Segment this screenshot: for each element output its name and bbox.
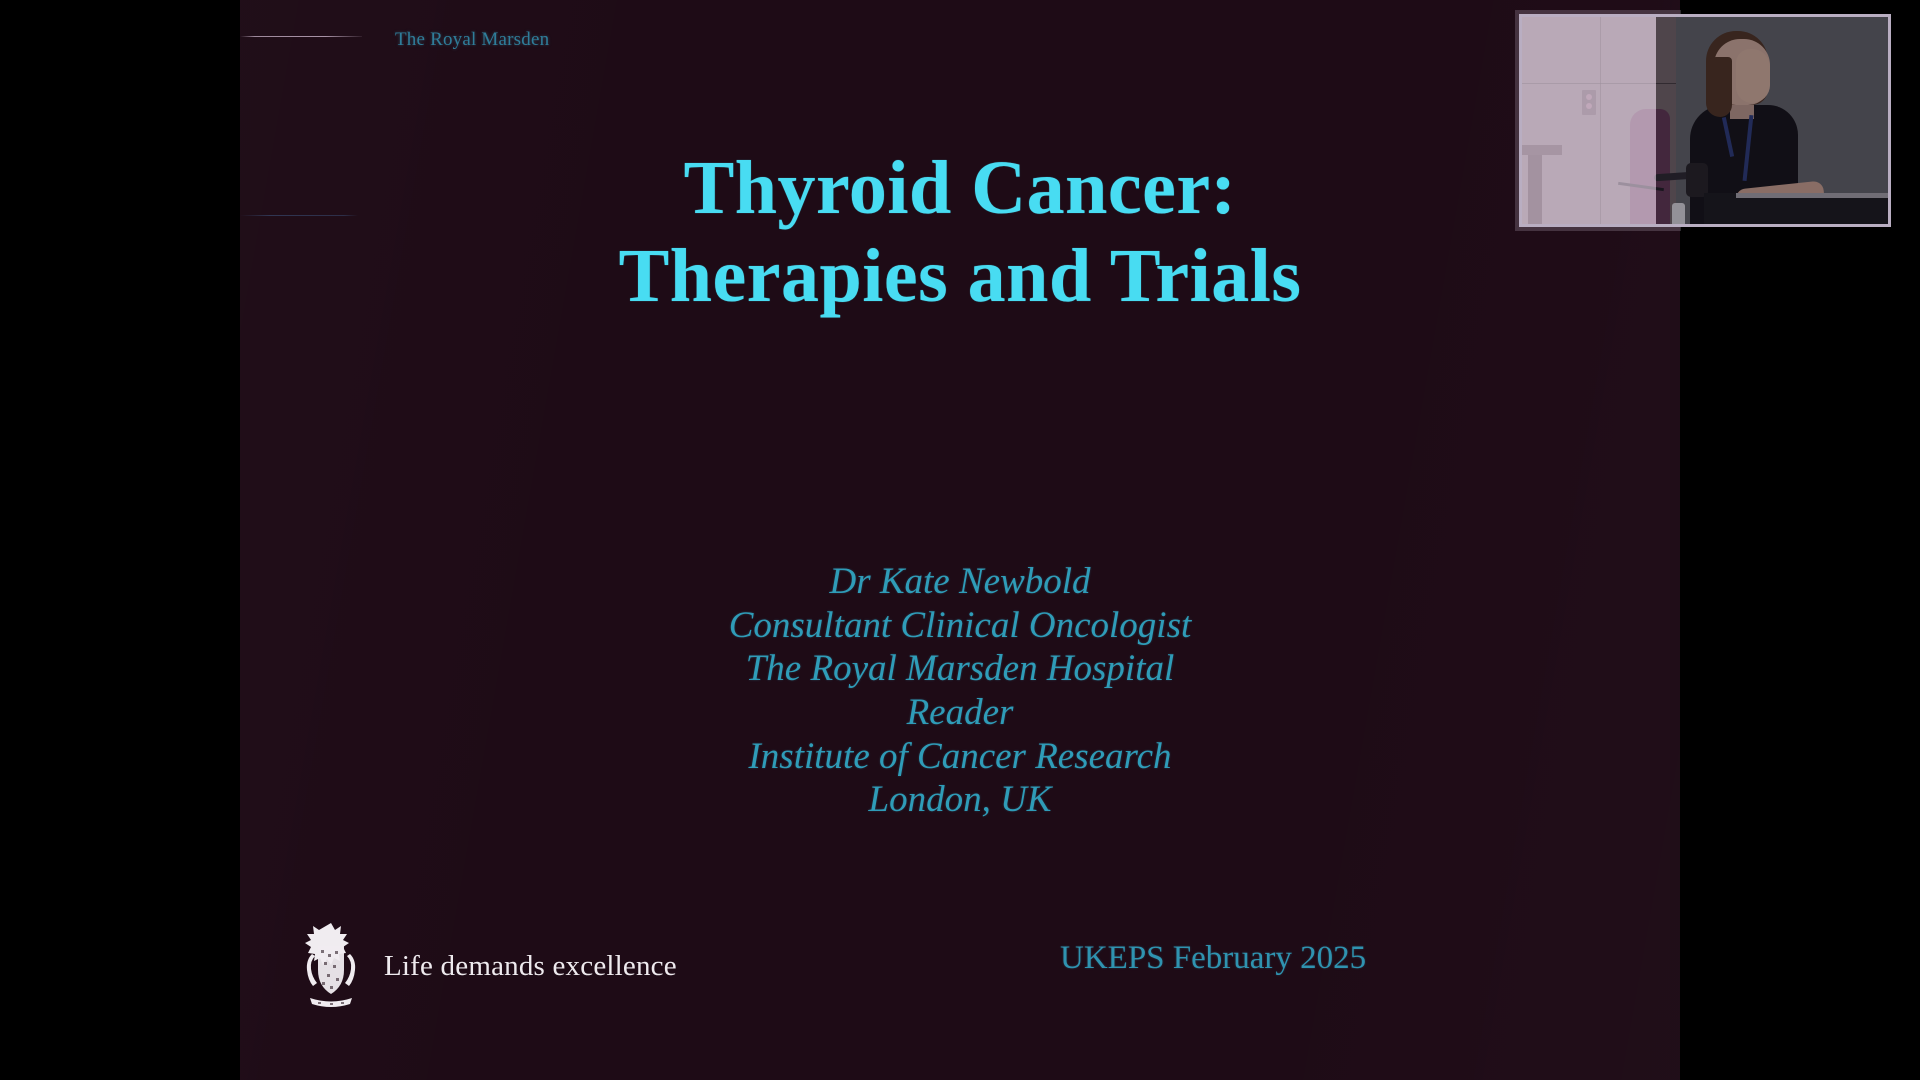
side-table-leg: [1528, 155, 1542, 224]
footer-branding: Life demands excellence: [300, 920, 677, 1012]
royal-crest-icon: [300, 920, 362, 1012]
speaker-webcam-overlay[interactable]: [1519, 14, 1891, 227]
panel-seam-vertical: [1600, 17, 1601, 224]
author-location: London, UK: [240, 778, 1680, 822]
speaker-hair-side: [1706, 57, 1732, 117]
author-affiliation-block: Dr Kate Newbold Consultant Clinical Onco…: [240, 560, 1680, 822]
video-frame: The Royal Marsden Thyroid Cancer: Therap…: [0, 0, 1920, 1080]
author-role: Consultant Clinical Oncologist: [240, 604, 1680, 648]
author-name: Dr Kate Newbold: [240, 560, 1680, 604]
panel-seam-horizontal: [1522, 83, 1676, 84]
microphone-head: [1686, 163, 1708, 197]
webcam-video-frame: [1522, 17, 1888, 224]
chair-back: [1630, 109, 1670, 224]
slide-title-line-2: Therapies and Trials: [240, 238, 1680, 316]
slide-title: Thyroid Cancer: Therapies and Trials: [240, 150, 1680, 325]
side-table: [1522, 145, 1562, 155]
wall-switch-icon: [1582, 90, 1596, 115]
author-institute: Institute of Cancer Research: [240, 735, 1680, 779]
author-academic-title: Reader: [240, 691, 1680, 735]
speaker-face: [1736, 49, 1770, 103]
author-hospital: The Royal Marsden Hospital: [240, 647, 1680, 691]
slide-title-line-1: Thyroid Cancer:: [240, 150, 1680, 228]
presentation-slide: The Royal Marsden Thyroid Cancer: Therap…: [240, 0, 1680, 1080]
lectern-top-edge: [1736, 193, 1888, 198]
header-rule-top: [240, 36, 362, 37]
water-bottle: [1672, 203, 1685, 224]
event-label: UKEPS February 2025: [1060, 940, 1366, 977]
brand-tagline: Life demands excellence: [384, 950, 677, 983]
organisation-brand: The Royal Marsden: [395, 29, 549, 51]
